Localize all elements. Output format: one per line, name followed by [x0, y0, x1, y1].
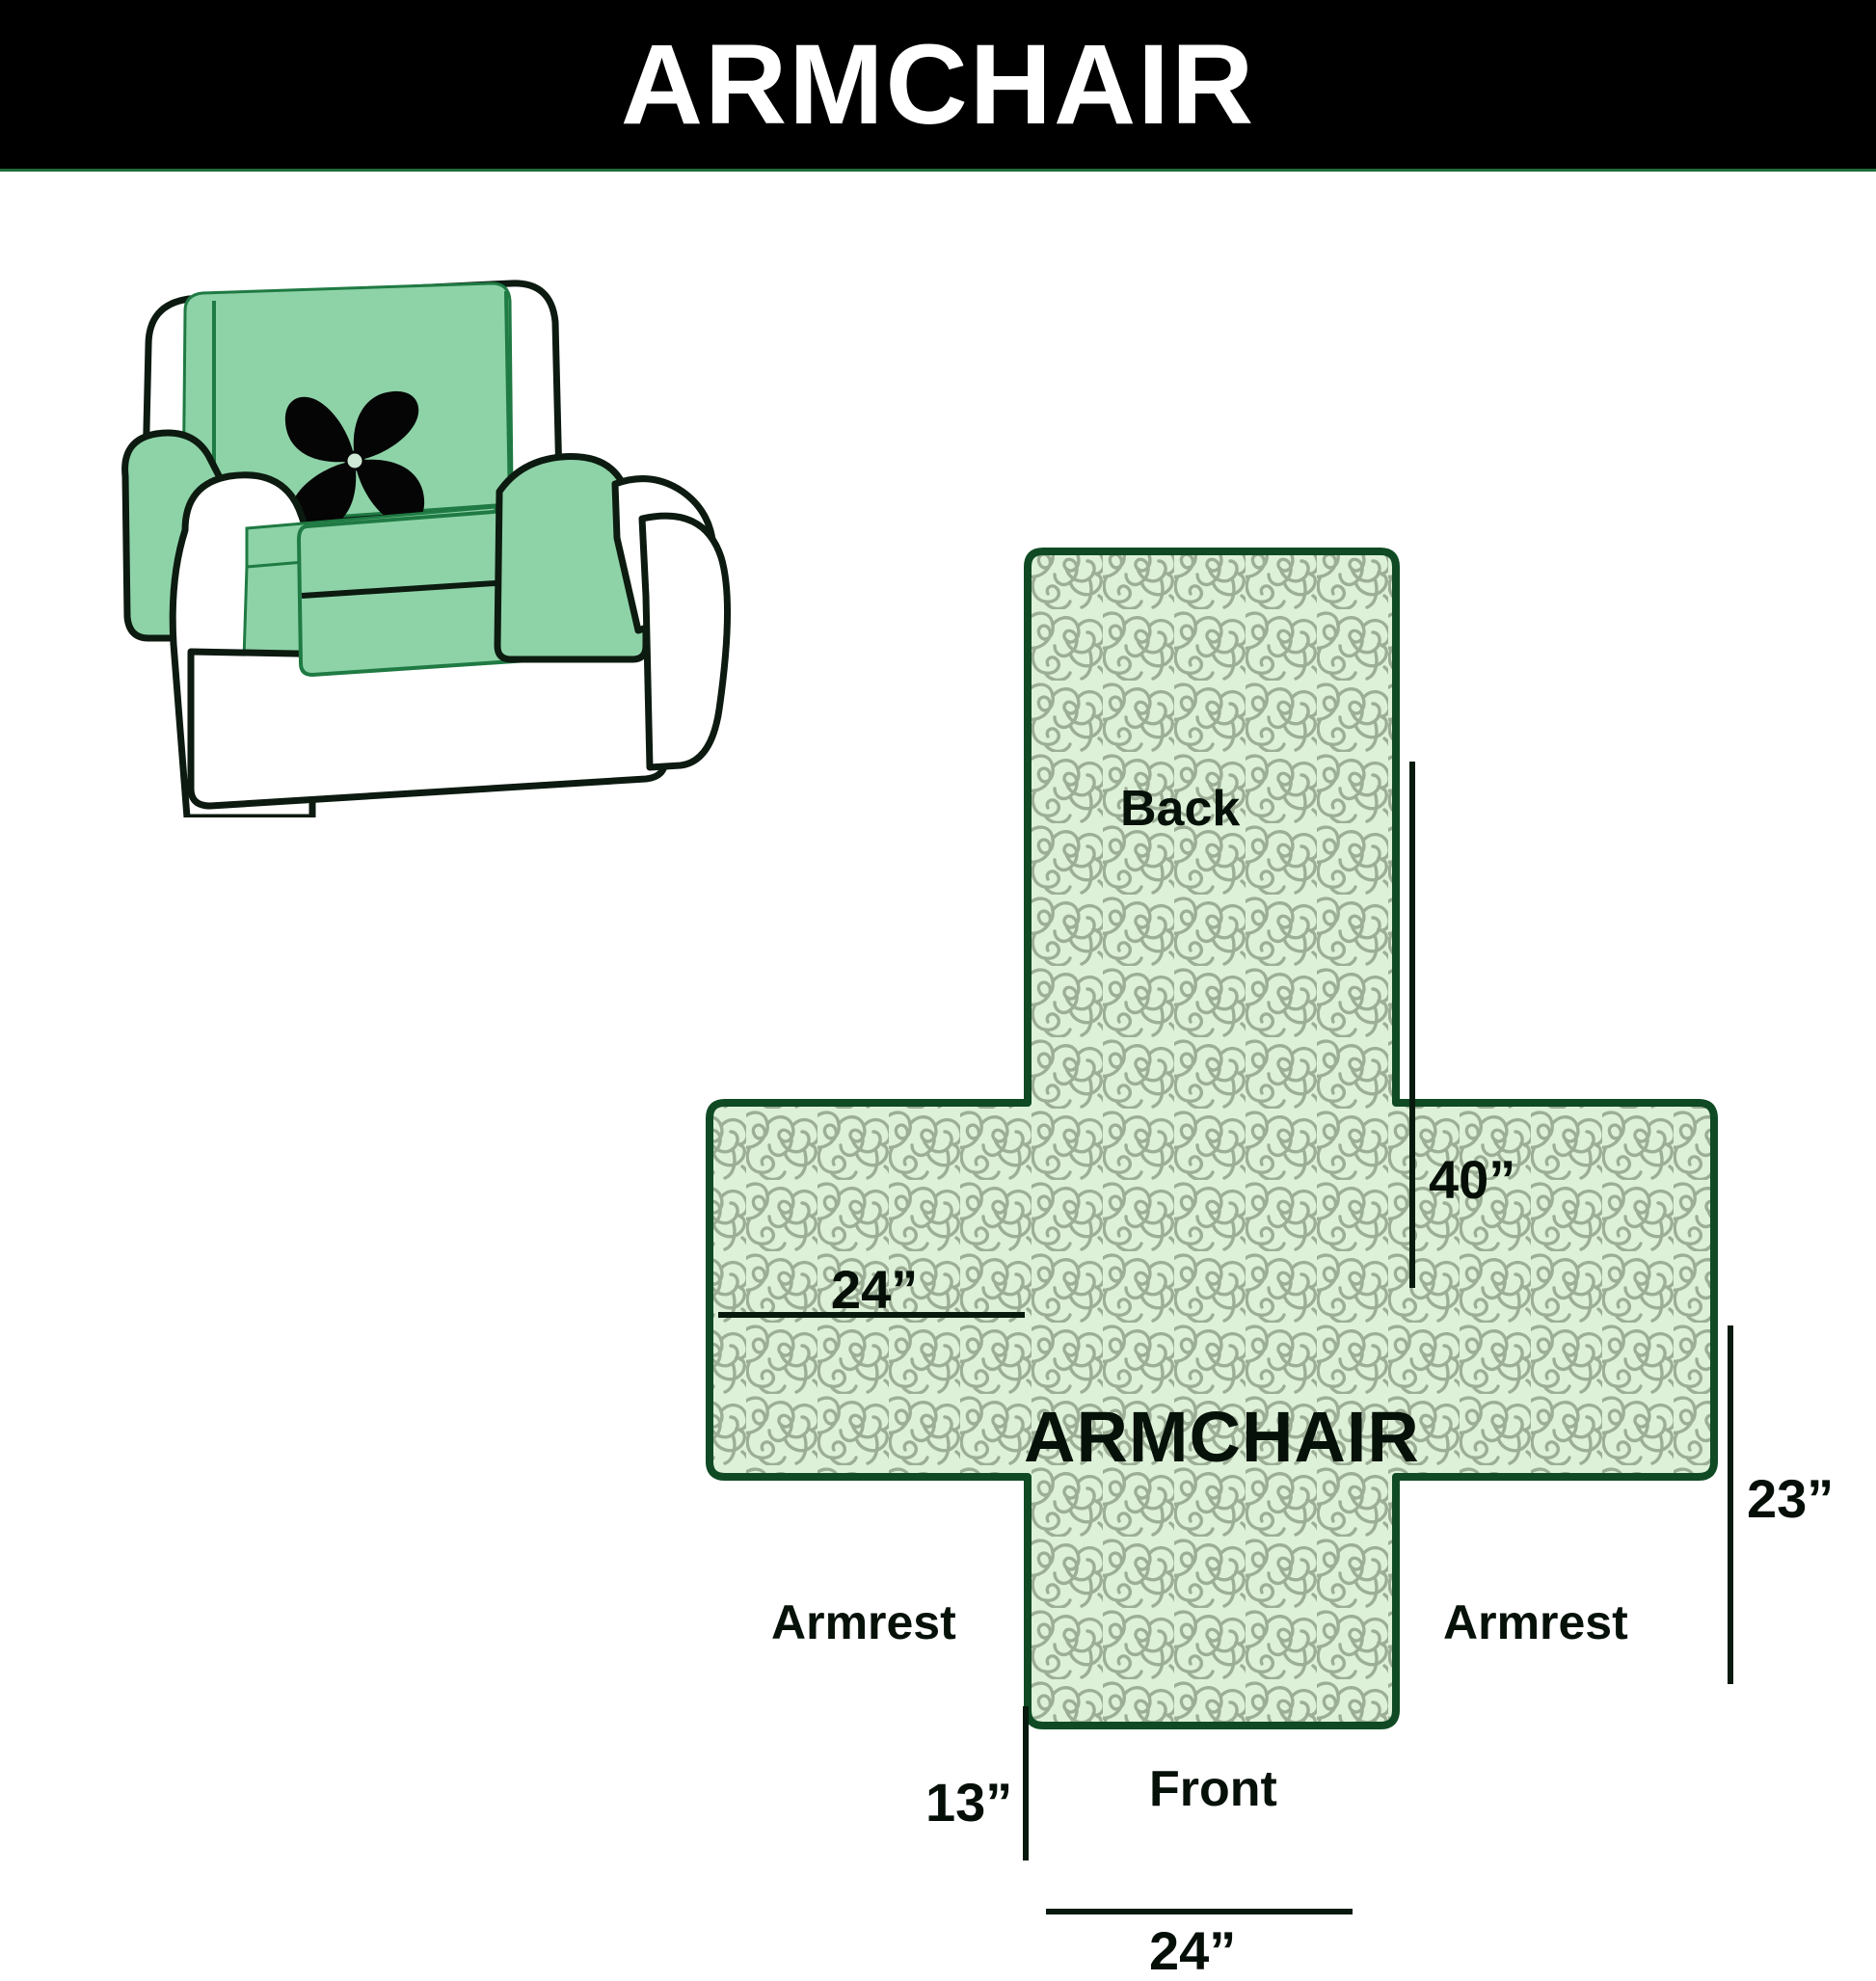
panel-label-back: Back: [1120, 784, 1240, 834]
dimension-label-back-length: 40”: [1429, 1153, 1515, 1207]
dimension-label-front-width: 24”: [1149, 1924, 1236, 1978]
page-title: ARMCHAIR: [621, 28, 1255, 142]
diagram-canvas: Back ARMCHAIR Armrest Armrest Front 40” …: [0, 172, 1876, 1876]
header-banner: ARMCHAIR: [0, 0, 1876, 172]
panel-label-armrest-right: Armrest: [1443, 1598, 1628, 1646]
dimension-line-back-length: [1409, 762, 1415, 1288]
dimension-line-center-height: [1728, 1325, 1733, 1684]
dimension-label-front-depth: 13”: [925, 1776, 1012, 1830]
dimension-label-armrest-width: 24”: [831, 1263, 918, 1317]
panel-label-front: Front: [1149, 1764, 1277, 1814]
dimension-line-front-width: [1046, 1909, 1353, 1914]
cover-cross-fill: [675, 538, 1783, 1753]
armchair-illustration: [106, 278, 762, 817]
panel-label-armrest-left: Armrest: [771, 1598, 956, 1646]
cover-pattern-diagram: [675, 538, 1783, 1753]
panel-label-armchair: ARMCHAIR: [1024, 1402, 1420, 1473]
dimension-label-center-height: 23”: [1747, 1472, 1834, 1526]
dimension-line-front-depth: [1023, 1706, 1029, 1861]
